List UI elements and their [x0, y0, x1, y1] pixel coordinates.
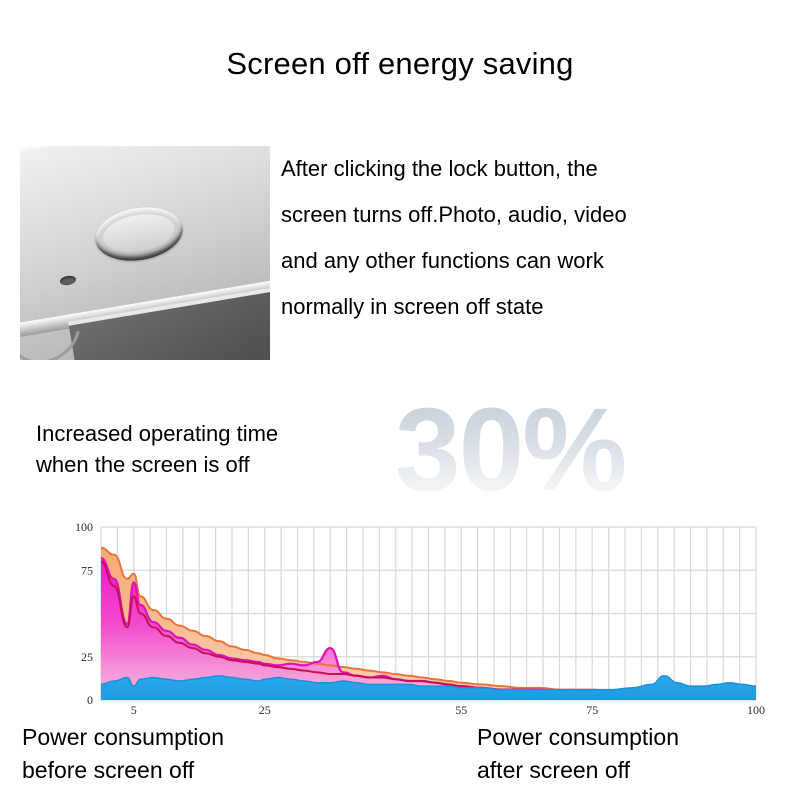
- x-axis-tick-label: 5: [131, 703, 137, 717]
- chart-svg: 5255575100 02575100: [0, 0, 800, 800]
- caption-left-line-1: Power consumption: [22, 721, 224, 754]
- x-axis-tick-label: 75: [586, 703, 598, 717]
- page-root: Screen off energy saving After clicking …: [0, 0, 800, 800]
- caption-right-line-1: Power consumption: [477, 721, 679, 754]
- caption-after-screen-off: Power consumption after screen off: [477, 721, 679, 787]
- chart-plot-area: 5255575100 02575100: [75, 520, 765, 717]
- chart-y-axis-labels: 02575100: [75, 520, 93, 707]
- x-axis-tick-label: 55: [455, 703, 467, 717]
- chart-x-axis-labels: 5255575100: [131, 703, 765, 717]
- caption-left-line-2: before screen off: [22, 754, 224, 787]
- caption-right-line-2: after screen off: [477, 754, 679, 787]
- y-axis-tick-label: 100: [75, 520, 93, 534]
- x-axis-tick-label: 100: [747, 703, 765, 717]
- y-axis-tick-label: 75: [81, 563, 93, 577]
- power-consumption-chart: 5255575100 02575100: [0, 0, 800, 800]
- y-axis-tick-label: 0: [87, 693, 93, 707]
- y-axis-tick-label: 25: [81, 650, 93, 664]
- x-axis-tick-label: 25: [259, 703, 271, 717]
- caption-before-screen-off: Power consumption before screen off: [22, 721, 224, 787]
